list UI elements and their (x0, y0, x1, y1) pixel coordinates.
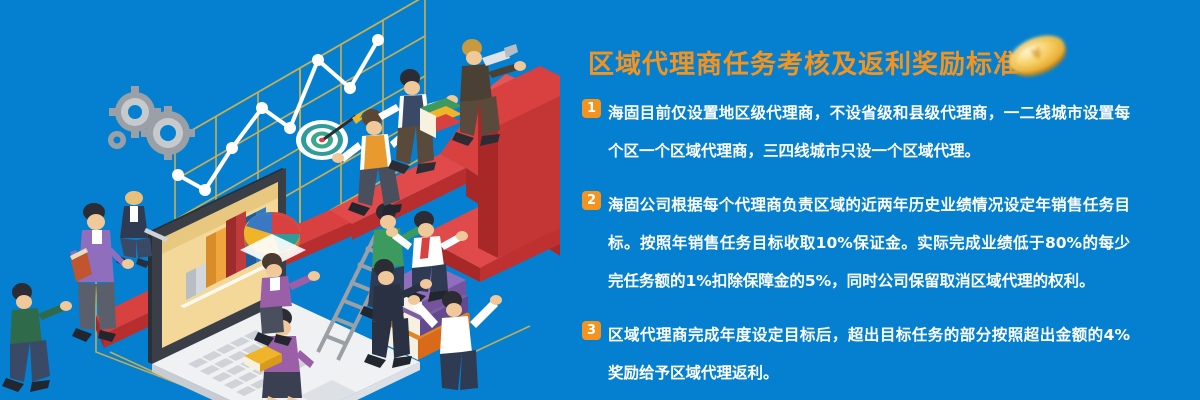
list-item: 1 海固目前仅设置地区级代理商，不设省级和县级代理商，一二线城市设置每个区一个区… (582, 94, 1130, 170)
content-panel: 区域代理商任务考核及返利奖励标准 (560, 0, 1200, 400)
list-item: 2 海固公司根据每个代理商负责区域的近两年历史业绩情况设定年销售任务目标。按照年… (582, 186, 1130, 300)
list-item-number-badge: 3 (582, 321, 601, 340)
illustration (0, 0, 560, 400)
rules-list: 1 海固目前仅设置地区级代理商，不设省级和县级代理商，一二线城市设置每个区一个区… (582, 94, 1130, 392)
list-item-text: 海固公司根据每个代理商负责区域的近两年历史业绩情况设定年销售任务目标。按照年销售… (608, 186, 1130, 300)
list-item-text: 海固目前仅设置地区级代理商，不设省级和县级代理商，一二线城市设置每个区一个区域代… (608, 94, 1130, 170)
list-item: 3 区域代理商完成年度设定目标后，超出目标任务的部分按照超出金额的4%奖励给予区… (582, 316, 1130, 392)
list-item-number-badge: 1 (582, 99, 601, 118)
page-title: 区域代理商任务考核及返利奖励标准 (588, 44, 1020, 81)
list-item-number-badge: 2 (582, 191, 601, 210)
gold-coin-icon: ¥ (1003, 22, 1071, 84)
list-item-text: 区域代理商完成年度设定目标后，超出目标任务的部分按照超出金额的4%奖励给予区域代… (608, 316, 1130, 392)
promo-banner: 区域代理商任务考核及返利奖励标准 (0, 0, 1200, 400)
